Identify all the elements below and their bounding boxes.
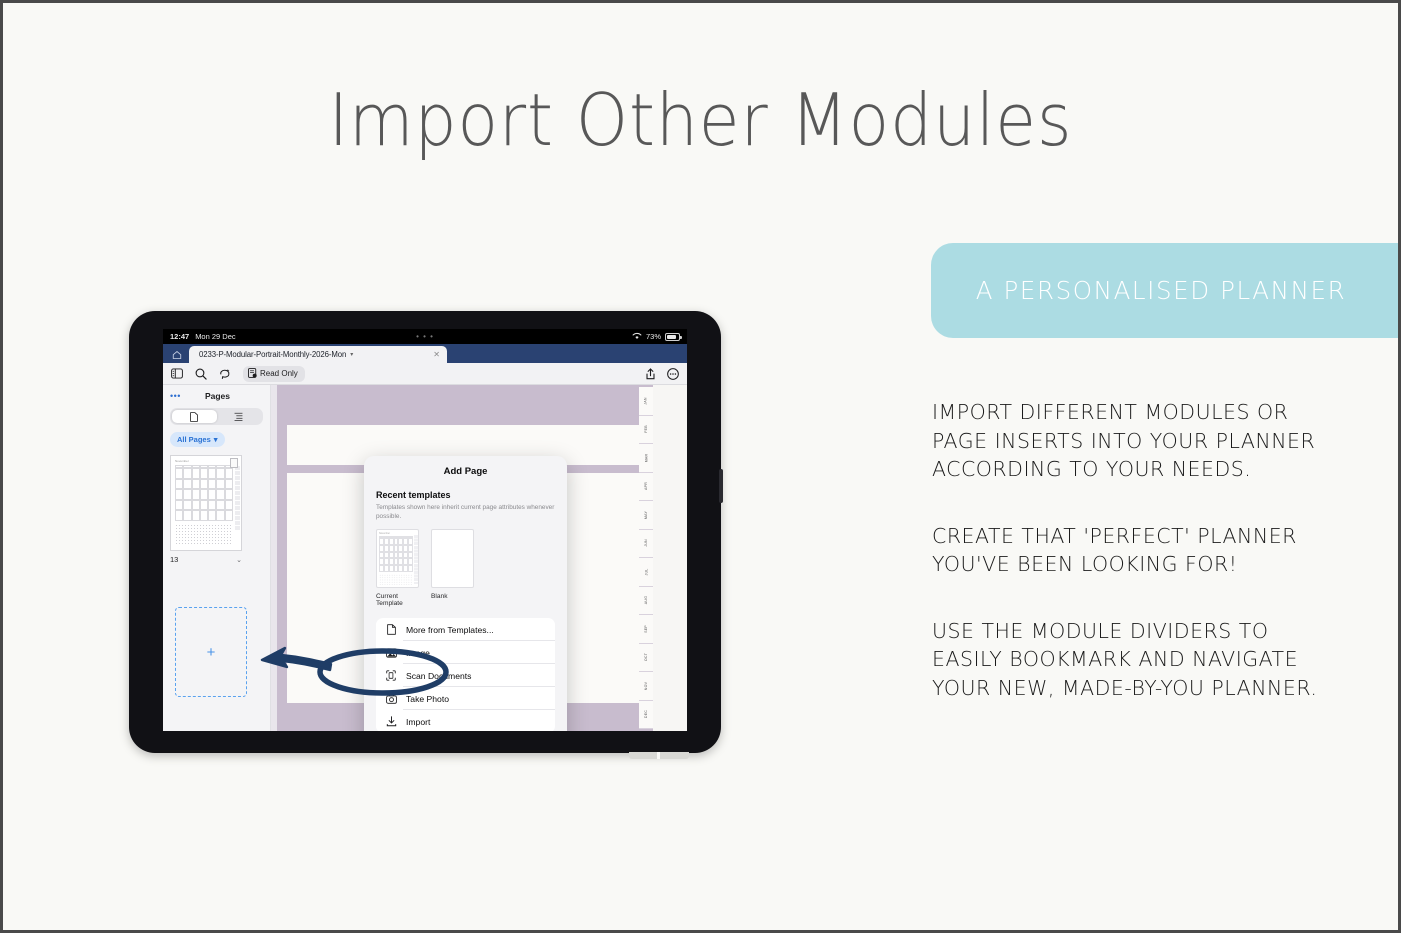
planner-month-tab-rail: JAN FEB MAR APR MAY JUN JUL AUG SEP OCT … — [639, 387, 653, 729]
add-page-dialog: Add Page Recent templates Templates show… — [364, 456, 567, 731]
template-thumbnail[interactable]: November — [376, 529, 419, 588]
document-canvas[interactable]: JAN FEB MAR APR MAY JUN JUL AUG SEP OCT … — [271, 385, 687, 731]
section-banner: A PERSONALISED PLANNER — [931, 243, 1401, 338]
body-line: ACCORDING TO YOUR NEEDS. — [932, 455, 1392, 484]
add-page-placeholder[interactable]: + — [175, 607, 247, 697]
template-caption: Current Template — [376, 593, 419, 607]
scan-icon — [385, 670, 397, 681]
month-tab[interactable]: OCT — [639, 644, 653, 673]
template-month-rail — [414, 535, 418, 584]
menu-item-label: More from Templates... — [406, 625, 494, 635]
month-tab[interactable]: MAR — [639, 444, 653, 473]
body-paragraph-1: IMPORT DIFFERENT MODULES OR PAGE INSERTS… — [932, 398, 1392, 484]
body-line: PAGE INSERTS INTO YOUR PLANNER — [932, 427, 1392, 456]
document-icon — [385, 624, 397, 635]
app-tab-bar: 0233-P-Modular-Portrait-Monthly-2026-Mon… — [163, 344, 687, 363]
read-only-doc-icon — [248, 368, 257, 380]
page-thumbnail-footer: 13 ⌄ — [170, 555, 242, 564]
tablet-screen: 12:47 Mon 29 Dec • • • 73% 0233-P-Modula… — [163, 329, 687, 731]
app-toolbar: Read Only — [163, 363, 687, 385]
status-center-dots: • • • — [416, 332, 434, 341]
month-tab[interactable]: AUG — [639, 587, 653, 616]
more-circle-icon[interactable] — [667, 368, 679, 380]
menu-item-label: Import — [406, 717, 430, 727]
body-line: USE THE MODULE DIVIDERS TO — [932, 617, 1392, 646]
menu-item-scan-documents[interactable]: Scan Documents — [376, 664, 555, 687]
plus-icon: + — [207, 644, 216, 661]
menu-item-import[interactable]: Import — [376, 710, 555, 731]
search-icon[interactable] — [195, 368, 207, 380]
menu-item-more-from-templates[interactable]: More from Templates... — [376, 618, 555, 641]
camera-icon — [385, 694, 397, 704]
chevron-down-icon[interactable]: ▾ — [350, 351, 353, 358]
template-caption: Blank — [431, 593, 474, 600]
month-tab[interactable]: JUN — [639, 530, 653, 559]
month-tab[interactable]: APR — [639, 473, 653, 502]
body-line: IMPORT DIFFERENT MODULES OR — [932, 398, 1392, 427]
thumbnail-month-tabs — [235, 466, 240, 530]
thumbnail-dot-grid — [175, 524, 233, 546]
template-calendar-grid — [379, 536, 413, 572]
body-paragraph-3: USE THE MODULE DIVIDERS TO EASILY BOOKMA… — [932, 617, 1392, 703]
tablet-device-mockup: 12:47 Mon 29 Dec • • • 73% 0233-P-Modula… — [129, 311, 721, 753]
template-card-blank[interactable]: Blank — [431, 529, 474, 607]
wifi-icon — [632, 332, 642, 342]
read-only-button[interactable]: Read Only — [243, 366, 305, 382]
image-icon — [385, 648, 397, 658]
status-time: 12:47 — [170, 332, 189, 341]
template-dot-grid — [379, 574, 413, 585]
status-indicators: 73% — [632, 332, 680, 342]
ios-status-bar: 12:47 Mon 29 Dec • • • 73% — [163, 329, 687, 344]
month-tab[interactable]: JAN — [639, 387, 653, 416]
body-line: CREATE THAT 'PERFECT' PLANNER — [932, 522, 1392, 551]
all-pages-filter-chip[interactable]: All Pages ▾ — [170, 432, 225, 447]
template-thumbnail[interactable] — [431, 529, 474, 588]
banner-label: A PERSONALISED PLANNER — [976, 276, 1356, 305]
battery-percent: 73% — [646, 332, 661, 341]
chevron-down-icon[interactable]: ⌄ — [236, 556, 242, 564]
import-download-icon — [385, 716, 397, 727]
page-title: Import Other Modules — [56, 78, 1345, 162]
outline-view-icon[interactable] — [217, 410, 262, 423]
page-thumbnail-item[interactable]: November 13 — [170, 455, 242, 564]
sidebar-header: ••• Pages — [170, 391, 263, 401]
month-tab[interactable]: FEB — [639, 416, 653, 445]
page-number-label: 13 — [170, 555, 178, 564]
thumbnail-calendar-grid — [175, 465, 233, 521]
dialog-title: Add Page — [376, 466, 555, 477]
month-tab[interactable]: DEC — [639, 701, 653, 730]
template-card-current[interactable]: November — [376, 529, 419, 607]
document-tab[interactable]: 0233-P-Modular-Portrait-Monthly-2026-Mon… — [189, 346, 447, 363]
month-tab[interactable]: JUL — [639, 558, 653, 587]
menu-item-label: Scan Documents — [406, 671, 471, 681]
thumbnail-month-label: November — [175, 459, 189, 463]
sidebar-title: Pages — [205, 391, 230, 401]
lasso-select-icon[interactable] — [219, 368, 231, 380]
recent-templates-heading: Recent templates — [376, 490, 555, 500]
home-icon[interactable] — [168, 346, 186, 363]
body-line: YOU'VE BEEN LOOKING FOR! — [932, 550, 1392, 579]
sidebar-segmented-control[interactable] — [170, 408, 263, 425]
tablet-stand-feet — [629, 752, 689, 759]
recent-templates-description: Templates shown here inherit current pag… — [376, 503, 555, 521]
menu-item-label: Image — [406, 648, 430, 658]
menu-item-image[interactable]: Image — [376, 641, 555, 664]
more-dots-icon[interactable]: ••• — [170, 391, 181, 401]
close-icon[interactable]: ✕ — [433, 350, 440, 359]
toolbar-right-group — [645, 368, 679, 380]
read-only-label: Read Only — [260, 369, 298, 378]
page-view-icon[interactable] — [172, 410, 217, 423]
menu-item-take-photo[interactable]: Take Photo — [376, 687, 555, 710]
share-icon[interactable] — [645, 368, 656, 380]
battery-icon — [665, 333, 680, 341]
pages-sidebar: ••• Pages All Pages ▾ — [163, 385, 271, 731]
sidebar-toggle-icon[interactable] — [171, 368, 183, 379]
template-month-label: November — [379, 532, 390, 535]
app-body: ••• Pages All Pages ▾ — [163, 385, 687, 731]
month-tab[interactable]: MAY — [639, 501, 653, 530]
tablet-side-button — [719, 469, 723, 503]
status-date: Mon 29 Dec — [195, 332, 235, 341]
canvas-right-gutter — [653, 385, 687, 731]
month-tab[interactable]: NOV — [639, 672, 653, 701]
body-paragraph-2: CREATE THAT 'PERFECT' PLANNER YOU'VE BEE… — [932, 522, 1392, 579]
all-pages-label: All Pages — [177, 435, 211, 444]
menu-item-label: Take Photo — [406, 694, 449, 704]
add-page-menu: More from Templates... Image — [376, 618, 555, 731]
page-thumbnail[interactable]: November — [170, 455, 242, 551]
document-tab-title: 0233-P-Modular-Portrait-Monthly-2026-Mon — [199, 350, 346, 359]
body-line: YOUR NEW, MADE-BY-YOU PLANNER. — [932, 674, 1392, 703]
template-choices: November — [376, 529, 555, 607]
chevron-down-icon: ▾ — [214, 435, 218, 444]
body-line: EASILY BOOKMARK AND NAVIGATE — [932, 645, 1392, 674]
body-copy: IMPORT DIFFERENT MODULES OR PAGE INSERTS… — [932, 398, 1392, 702]
month-tab[interactable]: SEP — [639, 615, 653, 644]
bookmark-icon — [230, 458, 238, 468]
